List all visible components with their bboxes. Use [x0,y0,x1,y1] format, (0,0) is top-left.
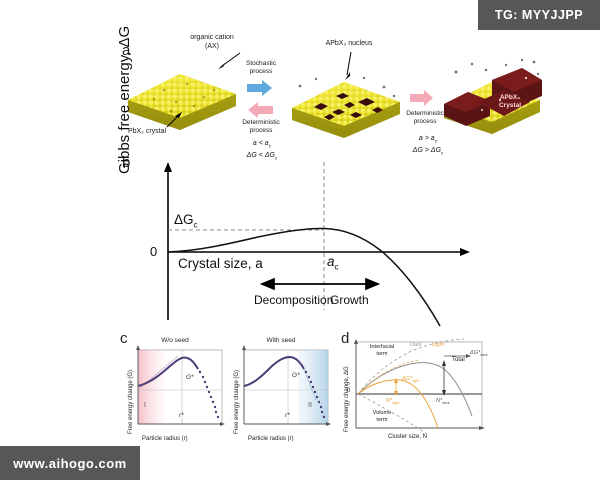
panel-d-dgdark-label: ΔG*dark [470,350,488,358]
panel-d-dglight-label: ΔG*light [402,376,419,384]
nucleus-label: APbX₃ nucleus [310,40,388,49]
panel-c-left: W/o seed Free energy change (G) Particle… [124,338,226,444]
apbx3-crystal-inset-label: APbX₃ Crystal [484,94,536,110]
panel-b-growth-label: Growth [330,293,369,307]
condition-left: a < ac ΔG < ΔGc [228,139,296,162]
stochastic-arrow-icon [247,80,273,96]
panel-c-right: With seed Free energy change (G) Particl… [230,338,332,444]
panel-d-total-label: Total [452,357,465,364]
panel-c-right-region-label: II [308,402,312,409]
panel-d-light-legend: Light [432,342,444,349]
panel-d: Free energy change, ΔG Cluster size, N [340,332,490,447]
stochastic-process-label: Stochastic process [238,60,284,76]
panel-b-ac-label: ac [327,254,339,272]
panel-b-deltagc-label: ΔGc [174,212,198,230]
deterministic-arrow-icon-1 [247,102,273,118]
panel-d-ndark-label: N*dark [436,398,450,406]
nucleated-slab [288,72,406,144]
panel-b-origin: 0 [150,244,157,259]
panel-c-right-gstar: G* [292,372,300,379]
figure-canvas: a organic cation (AX) APbX₃ nucleus [0,0,600,480]
panel-d-dark-legend: Dark [410,342,422,349]
panel-c: W/o seed Free energy change (G) Particle… [118,332,333,447]
panel-c-left-region-label: I [144,402,146,409]
panel-b-xlabel: Crystal size, a [178,256,263,271]
panel-c-left-gstar: G* [186,374,194,381]
tg-watermark-badge: TG: MYYJJPP [478,0,600,30]
panel-b: Gibbs free energy, ΔG 0 ΔGc Crystal siz [118,160,478,328]
panel-d-origin: 0 [347,388,350,395]
pbx2-leader-line [162,112,184,132]
organic-cation-label: organic cation (AX) [172,34,252,52]
panel-c-right-rstar: r* [285,412,290,419]
panel-d-interfacial-label: Interfacial term [362,344,402,357]
site-watermark-badge: www.aihogo.com [0,446,140,480]
panel-b-decomposition-label: Decomposition [254,293,333,307]
panel-c-left-plot [124,342,226,438]
panel-d-nlight-label: N*light [386,398,399,406]
deterministic-process-label-1: Deterministic process [234,119,288,135]
panel-b-ylabel: Gibbs free energy, ΔG [116,34,133,174]
deterministic-arrow-icon-2 [410,90,434,106]
panel-a: organic cation (AX) APbX₃ nucleus [110,34,510,159]
panel-c-right-plot [230,342,332,438]
panel-d-volume-label: Volume term [364,410,400,423]
panel-c-left-rstar: r* [179,412,184,419]
